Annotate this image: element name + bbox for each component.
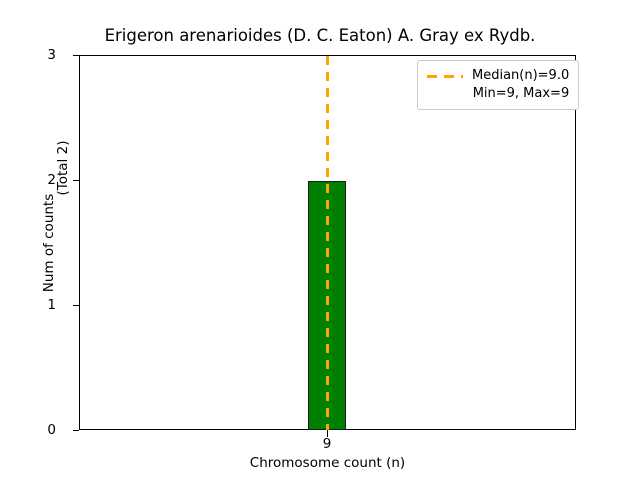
y-tick-label-3: 3 xyxy=(16,47,56,63)
legend-entry-median: Median(n)=9.0 Min=9, Max=9 xyxy=(427,67,569,103)
legend-minmax-label: Min=9, Max=9 xyxy=(473,86,570,101)
legend-dashed-line-icon xyxy=(427,67,463,85)
legend-median-label: Median(n)=9.0 xyxy=(472,68,569,83)
y-axis-label-total: (Total 2) xyxy=(55,93,71,243)
legend: Median(n)=9.0 Min=9, Max=9 xyxy=(417,60,579,110)
plot-area: Median(n)=9.0 Min=9, Max=9 xyxy=(79,55,576,430)
chart-figure: Erigeron arenarioides (D. C. Eaton) A. G… xyxy=(0,0,640,480)
median-line xyxy=(326,56,329,430)
x-axis-label: Chromosome count (n) xyxy=(79,455,576,471)
y-tick-label-0: 0 xyxy=(16,422,56,438)
x-tick-label-9: 9 xyxy=(297,436,357,452)
chart-title: Erigeron arenarioides (D. C. Eaton) A. G… xyxy=(0,26,640,45)
legend-entry-text: Median(n)=9.0 Min=9, Max=9 xyxy=(472,67,569,103)
